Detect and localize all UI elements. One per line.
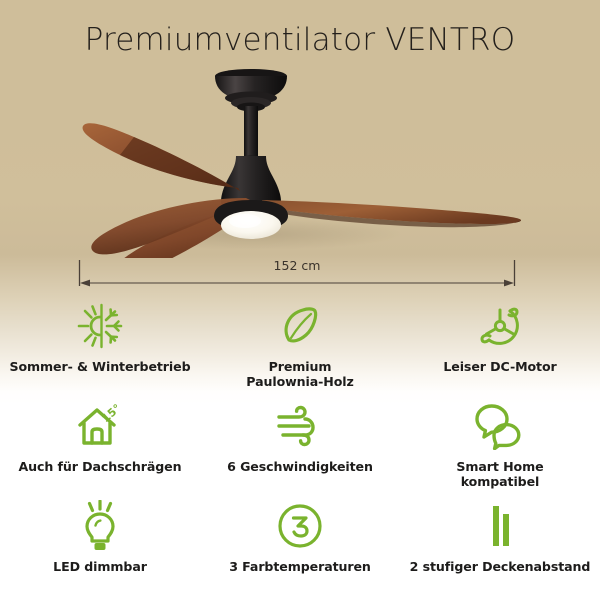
feature-item-dc-motor: Leiser DC-Motor bbox=[400, 296, 600, 396]
two-bars-shape bbox=[480, 502, 520, 550]
product-image bbox=[0, 58, 600, 258]
feature-caption: Premium Paulownia-Holz bbox=[246, 359, 353, 390]
leaf-icon bbox=[276, 300, 324, 352]
two-bars-icon bbox=[480, 500, 520, 552]
page-title: Premiumventilator VENTRO bbox=[0, 22, 600, 58]
feature-caption: Sommer- & Winterbetrieb bbox=[9, 359, 190, 374]
house-slope-angle-label: 15° bbox=[99, 402, 123, 425]
dimension-line: 152 cm bbox=[78, 258, 516, 288]
fan-rotor-icon bbox=[475, 300, 525, 352]
feature-item-deckenabstand: 2 stufiger Deckenabstand bbox=[400, 496, 600, 596]
feature-item-paulownia-holz: Premium Paulownia-Holz bbox=[200, 296, 400, 396]
fan-blade-left-back-shade bbox=[120, 137, 240, 191]
feature-item-geschwindigkeiten: 6 Geschwindigkeiten bbox=[200, 396, 400, 496]
feature-grid: Sommer- & Winterbetrieb Premium Paulowni… bbox=[0, 296, 600, 596]
feature-item-sommer-winterbetrieb: Sommer- & Winterbetrieb bbox=[0, 296, 200, 396]
feature-caption: 2 stufiger Deckenabstand bbox=[410, 559, 591, 574]
house-slope-icon: 15° bbox=[72, 400, 128, 452]
infographic-page: Premiumventilator VENTRO bbox=[0, 0, 600, 600]
feature-caption: Smart Home kompatibel bbox=[456, 459, 543, 490]
feature-item-farbtemperaturen: 3 Farbtemperaturen bbox=[200, 496, 400, 596]
feature-caption: 3 Farbtemperaturen bbox=[229, 559, 371, 574]
feature-caption: Leiser DC-Motor bbox=[443, 359, 556, 374]
feature-item-dachschraegen: 15° Auch für Dachschrägen bbox=[0, 396, 200, 496]
feature-item-smart-home: Smart Home kompatibel bbox=[400, 396, 600, 496]
wind-icon bbox=[273, 400, 327, 452]
fan-downrod bbox=[244, 106, 258, 158]
sun-snowflake-icon bbox=[75, 300, 125, 352]
feature-item-led-dimmbar: LED dimmbar bbox=[0, 496, 200, 596]
feature-caption: LED dimmbar bbox=[53, 559, 147, 574]
light-bulb-icon bbox=[76, 500, 124, 552]
feature-caption: Auch für Dachschrägen bbox=[18, 459, 181, 474]
feature-caption: 6 Geschwindigkeiten bbox=[227, 459, 373, 474]
speech-bubbles-icon bbox=[474, 400, 526, 452]
circled-number-three-icon bbox=[276, 500, 324, 552]
dimension-arrow bbox=[78, 258, 516, 288]
fan-canopy bbox=[215, 69, 287, 112]
ceiling-fan-illustration bbox=[0, 58, 600, 258]
